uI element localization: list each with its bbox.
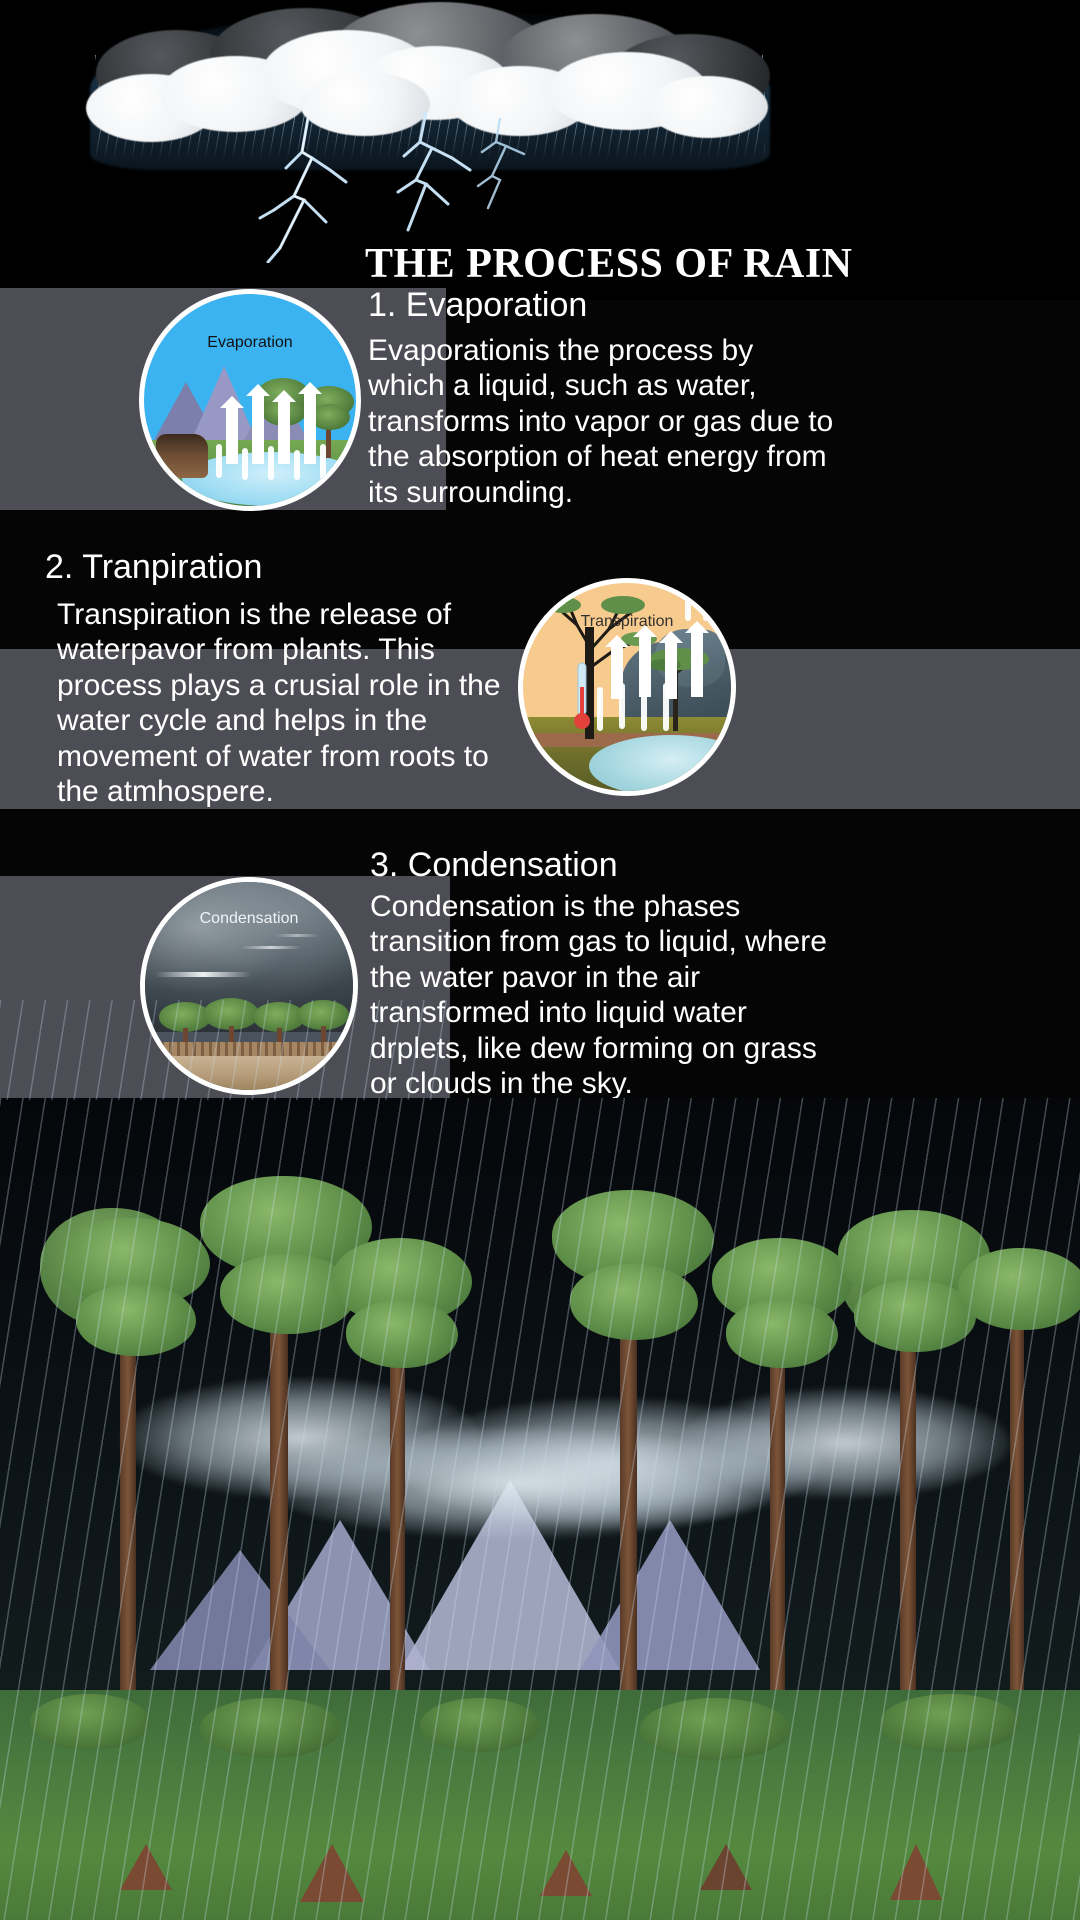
illustration-transpiration: Transpiration: [518, 578, 736, 796]
section-transpiration: 2. Tranpiration Transpiration is the rel…: [45, 548, 525, 809]
lightning-bolt-icon: [470, 118, 560, 213]
evaporation-arrow: [226, 406, 238, 464]
illustration-label: Evaporation: [144, 334, 356, 352]
tree-canopy: [346, 1300, 458, 1368]
water-body: [589, 735, 736, 796]
rock-shape: [540, 1850, 592, 1896]
tree-canopy: [726, 1300, 838, 1368]
tree-canopy: [958, 1248, 1080, 1330]
cloud-streak: [241, 946, 301, 949]
bush: [420, 1698, 540, 1752]
bush: [200, 1698, 340, 1758]
rock-shape: [120, 1844, 172, 1890]
illustration-label: Condensation: [145, 910, 353, 928]
vapor-wiggle: [320, 444, 326, 480]
bush: [640, 1698, 790, 1760]
cloud-streak: [155, 972, 251, 977]
transpiration-arrow: [639, 635, 651, 697]
page-title: THE PROCESS OF RAIN: [365, 240, 1025, 288]
section-body: Evaporationis the process by which a liq…: [368, 333, 838, 510]
rock-shape: [700, 1844, 752, 1890]
section-body: Condensation is the phases transition fr…: [370, 889, 850, 1101]
thermometer-icon: [571, 661, 593, 735]
vapor-wiggle: [641, 689, 647, 731]
evaporation-arrow: [304, 392, 316, 464]
evaporation-arrow: [278, 400, 290, 464]
tree-canopy: [570, 1264, 698, 1340]
ground-shape: [145, 1056, 353, 1090]
bush: [30, 1694, 150, 1750]
infographic-poster: THE PROCESS OF RAIN 1. Evaporation Evapo…: [0, 0, 1080, 1920]
mountain-shape: [150, 1550, 330, 1670]
illustration-condensation: Condensation: [140, 877, 358, 1095]
vapor-wiggle: [619, 683, 625, 729]
illustration-evaporation: Evaporation: [139, 289, 361, 511]
storm-cloud-white: [648, 76, 768, 138]
tree-trunk: [1010, 1298, 1024, 1708]
bush: [880, 1694, 1020, 1752]
tree-stump: [156, 434, 208, 478]
mist-cloud: [260, 1428, 780, 1538]
section-evaporation: 1. Evaporation Evaporationis the process…: [368, 286, 838, 510]
vapor-wiggle: [294, 450, 300, 480]
tree-canopy: [76, 1284, 196, 1356]
illustration-label: Transpiration: [523, 613, 731, 631]
vapor-wiggle: [268, 446, 274, 480]
cloud-streak: [275, 934, 319, 937]
section-heading: 1. Evaporation: [368, 286, 838, 325]
small-tree-icon: [641, 643, 721, 703]
rock-shape: [890, 1844, 942, 1900]
evaporation-arrow: [252, 394, 264, 464]
vapor-wiggle: [597, 687, 603, 731]
lightning-bolt-icon: [250, 118, 370, 263]
mountain-shape: [580, 1520, 760, 1670]
vapor-wiggle: [216, 444, 222, 478]
vapor-wiggle: [663, 683, 669, 731]
tree-canopy: [310, 404, 350, 430]
section-condensation: 3. Condensation Condensation is the phas…: [370, 846, 850, 1101]
vapor-wiggle: [242, 448, 248, 480]
rock-shape: [300, 1844, 364, 1902]
forest-scene: [0, 1098, 1080, 1920]
section-heading: 2. Tranpiration: [45, 548, 525, 587]
section-heading: 3. Condensation: [370, 846, 850, 885]
transpiration-arrow: [691, 631, 703, 697]
section-body: Transpiration is the release of waterpav…: [45, 597, 525, 809]
